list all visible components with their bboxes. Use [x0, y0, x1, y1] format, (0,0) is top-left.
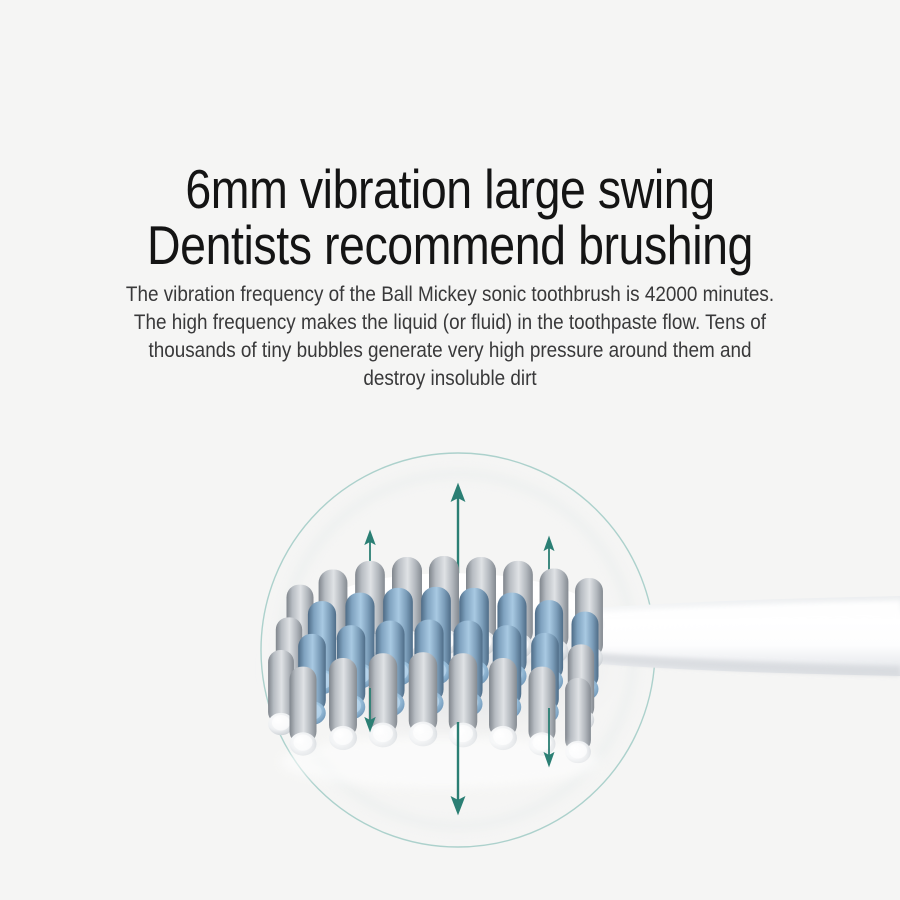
paragraph-line-4: destroy insoluble dirt: [45, 365, 855, 393]
page-title: 6mm vibration large swing Dentists recom…: [0, 163, 900, 273]
description-paragraph: The vibration frequency of the Ball Mick…: [0, 281, 900, 393]
headline-line-1: 6mm vibration large swing: [70, 163, 831, 217]
paragraph-line-2: The high frequency makes the liquid (or …: [45, 309, 855, 337]
product-feature-banner: 6mm vibration large swing Dentists recom…: [0, 0, 900, 900]
bristle-field: [268, 556, 603, 763]
paragraph-line-1: The vibration frequency of the Ball Mick…: [45, 281, 855, 309]
toothbrush-illustration: [0, 400, 900, 900]
headline-line-2: Dentists recommend brushing: [70, 219, 831, 273]
bristle-base-haze: [280, 736, 600, 788]
paragraph-line-3: thousands of tiny bubbles generate very …: [45, 337, 855, 365]
